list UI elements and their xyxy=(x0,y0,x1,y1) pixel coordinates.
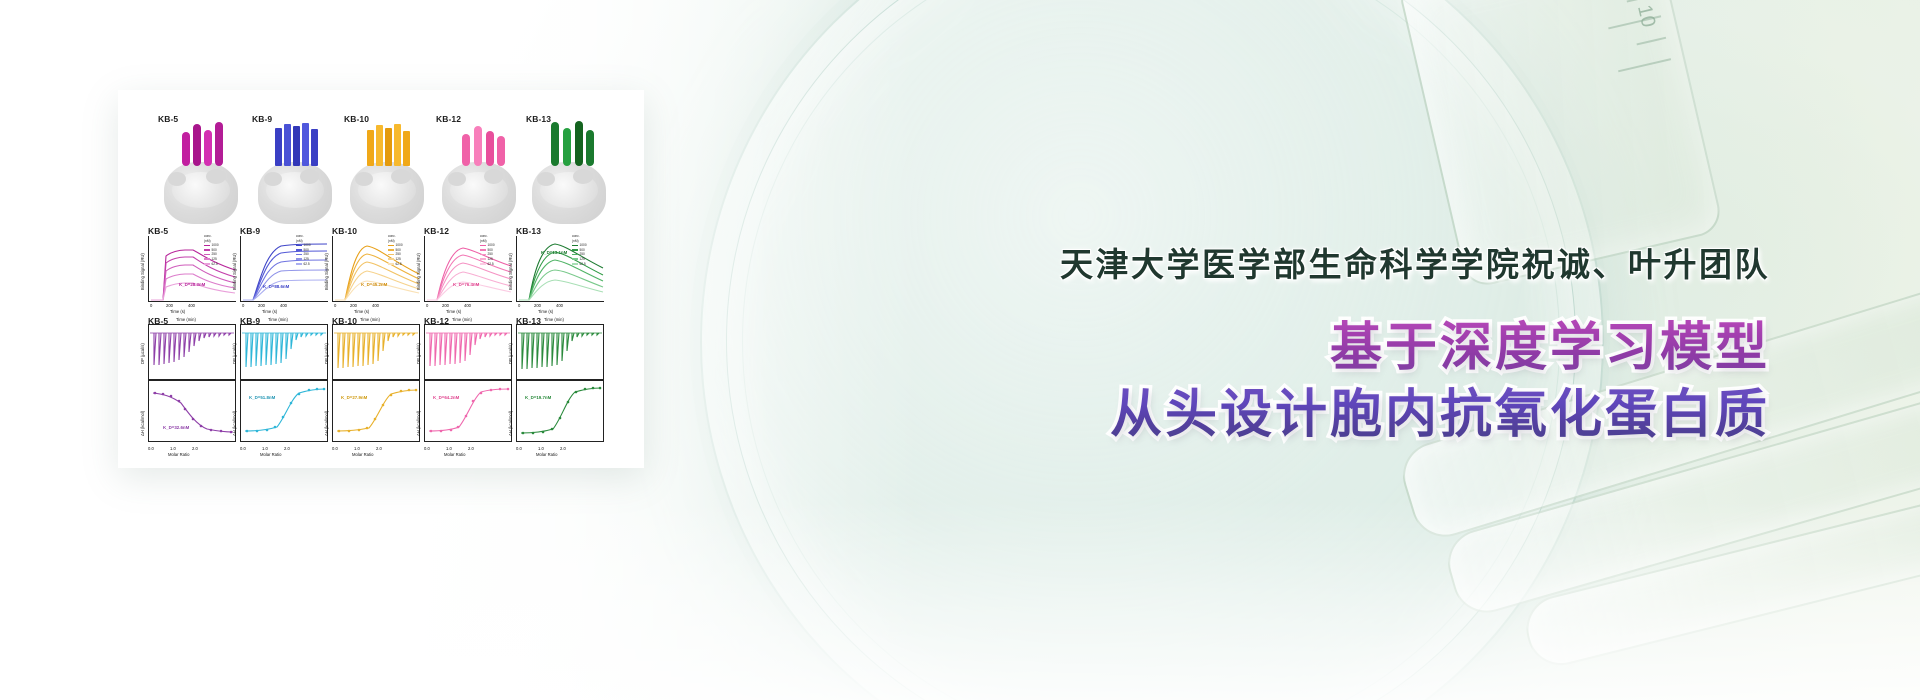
spr-xtick: 200 xyxy=(534,303,541,308)
itc-xtick: 0.0 xyxy=(516,446,522,451)
research-figure-card: KB-5 KB-9 xyxy=(118,90,644,468)
itc-xtick: 0.0 xyxy=(332,446,338,451)
itc-xtick: 1.0 xyxy=(446,446,452,451)
spr-label-kb9: KB-9 xyxy=(240,226,260,236)
spr-ylabel: Binding Signal (RU) xyxy=(508,253,513,290)
spr-kd-kb10: K_D=45.2nM xyxy=(361,282,387,287)
spr-xtick: 0 xyxy=(426,303,428,308)
figure-row-structures: KB-5 KB-9 xyxy=(118,112,644,224)
itc-top-ylabel: DP (µcal/s) xyxy=(416,343,421,364)
itc-top-xlabel: Time (min) xyxy=(268,317,288,322)
itc-top-ylabel: DP (µcal/s) xyxy=(232,343,237,364)
spr-legend-kb13: conc. (nM) 1000 500 250 125 62.5 xyxy=(572,234,587,266)
figure-row-spr: KB-5 Binding Signal (RU) K_D=28.3nM conc… xyxy=(118,228,644,314)
itc-kd-kb12: K_D=64.2nM xyxy=(433,395,459,400)
itc-xtick: 1.0 xyxy=(538,446,544,451)
structure-panel-kb9: KB-9 xyxy=(254,120,336,224)
spr-legend-title: conc. (nM) xyxy=(204,234,219,243)
spr-legend-title: conc. (nM) xyxy=(296,234,311,243)
itc-kd-kb9: K_D=51.8nM xyxy=(249,395,275,400)
itc-xtick: 0.0 xyxy=(424,446,430,451)
spr-xtick: 0 xyxy=(242,303,244,308)
spr-xtick: 400 xyxy=(372,303,379,308)
spr-xtick: 200 xyxy=(166,303,173,308)
itc-xtick: 1.0 xyxy=(354,446,360,451)
itc-top-ylabel: DP (µcal/s) xyxy=(508,343,513,364)
itc-bottom-xlabel: Molar Ratio xyxy=(536,452,557,457)
itc-top-xlabel: Time (min) xyxy=(452,317,472,322)
spr-xtick: 400 xyxy=(464,303,471,308)
spr-legend-title: conc. (nM) xyxy=(388,234,403,243)
spr-kd-kb9: K_D=88.6nM xyxy=(263,284,289,289)
itc-xtick: 0.0 xyxy=(240,446,246,451)
itc-bottom-ylabel: ΔH (kcal/mol) xyxy=(140,411,145,436)
itc-bottom-ylabel: ΔH (kcal/mol) xyxy=(324,411,329,436)
spr-kd-kb5: K_D=28.3nM xyxy=(179,282,205,287)
legend-value: 62.5 xyxy=(304,262,310,267)
spr-label-kb13: KB-13 xyxy=(516,226,541,236)
itc-top-ylabel: DP (µcal/s) xyxy=(324,343,329,364)
beaker-mark-10: 10 xyxy=(1632,3,1659,30)
spr-xlabel: Time (s) xyxy=(262,309,277,314)
itc-xtick: 2.0 xyxy=(468,446,474,451)
spr-label-kb12: KB-12 xyxy=(424,226,449,236)
itc-bottom-ylabel: ΔH (kcal/mol) xyxy=(232,411,237,436)
spr-xlabel: Time (s) xyxy=(446,309,461,314)
itc-xtick: 1.0 xyxy=(262,446,268,451)
itc-xtick: 1.0 xyxy=(170,446,176,451)
structure-panel-kb5: KB-5 xyxy=(160,120,242,224)
itc-top-xlabel: Time (min) xyxy=(176,317,196,322)
spr-ylabel: Binding Signal (RU) xyxy=(140,253,145,290)
spr-legend-title: conc. (nM) xyxy=(480,234,495,243)
structure-panel-kb12: KB-12 xyxy=(438,120,520,224)
spr-ylabel: Binding Signal (RU) xyxy=(324,253,329,290)
spr-xtick: 0 xyxy=(334,303,336,308)
spr-xtick: 400 xyxy=(556,303,563,308)
itc-bottom-ylabel: ΔH (kcal/mol) xyxy=(508,411,513,436)
spr-ylabel: Binding Signal (RU) xyxy=(416,253,421,290)
legend-value: 62.5 xyxy=(396,262,402,267)
spr-xtick: 400 xyxy=(280,303,287,308)
hero-banner: 20 10 KB-5 KB-9 xyxy=(0,0,1920,700)
spr-xtick: 200 xyxy=(442,303,449,308)
itc-xtick: 2.0 xyxy=(560,446,566,451)
spr-label-kb10: KB-10 xyxy=(332,226,357,236)
itc-kd-kb10: K_D=27.9nM xyxy=(341,395,367,400)
itc-bottom-xlabel: Molar Ratio xyxy=(444,452,465,457)
spr-ylabel: Binding Signal (RU) xyxy=(232,253,237,290)
itc-kd-kb5: K_D=32.6nM xyxy=(163,425,189,430)
structure-panel-kb13: KB-13 xyxy=(528,120,610,224)
spr-kd-kb12: K_D=76.4nM xyxy=(453,282,479,287)
legend-value: 62.5 xyxy=(212,262,218,267)
spr-xtick: 400 xyxy=(188,303,195,308)
spr-xtick: 200 xyxy=(258,303,265,308)
spr-kd-kb13: K_D=13.1nM xyxy=(541,250,567,255)
spr-xlabel: Time (s) xyxy=(538,309,553,314)
itc-top-xlabel: Time (min) xyxy=(544,317,564,322)
spr-legend-kb5: conc. (nM) 1000 500 250 125 62.5 xyxy=(204,234,219,266)
spr-xlabel: Time (s) xyxy=(354,309,369,314)
itc-top-xlabel: Time (min) xyxy=(360,317,380,322)
structure-label-kb5: KB-5 xyxy=(158,114,178,124)
spr-legend-kb9: conc. (nM) 1000 500 250 125 62.5 xyxy=(296,234,311,266)
spr-xlabel: Time (s) xyxy=(170,309,185,314)
spr-label-kb5: KB-5 xyxy=(148,226,168,236)
itc-xtick: 2.0 xyxy=(192,446,198,451)
itc-bottom-xlabel: Molar Ratio xyxy=(260,452,281,457)
spr-legend-title: conc. (nM) xyxy=(572,234,587,243)
figure-row-itc: KB-5 Time (min) DP (µcal/s) ΔH (kcal/mol… xyxy=(118,318,644,458)
spr-legend-kb12: conc. (nM) 1000 500 250 125 62.5 xyxy=(480,234,495,266)
itc-top-ylabel: DP (µcal/s) xyxy=(140,343,145,364)
itc-xtick: 2.0 xyxy=(284,446,290,451)
itc-xtick: 2.0 xyxy=(376,446,382,451)
legend-value: 62.5 xyxy=(580,262,586,267)
legend-value: 62.5 xyxy=(488,262,494,267)
itc-bottom-xlabel: Molar Ratio xyxy=(168,452,189,457)
spr-legend-kb10: conc. (nM) 1000 500 250 125 62.5 xyxy=(388,234,403,266)
structure-label-kb9: KB-9 xyxy=(252,114,272,124)
itc-bottom-ylabel: ΔH (kcal/mol) xyxy=(416,411,421,436)
spr-xtick: 0 xyxy=(150,303,152,308)
itc-kd-kb13: K_D=19.7nM xyxy=(525,395,551,400)
structure-panel-kb10: KB-10 xyxy=(346,120,428,224)
itc-xtick: 0.0 xyxy=(148,446,154,451)
spr-xtick: 0 xyxy=(518,303,520,308)
itc-bottom-xlabel: Molar Ratio xyxy=(352,452,373,457)
spr-xtick: 200 xyxy=(350,303,357,308)
